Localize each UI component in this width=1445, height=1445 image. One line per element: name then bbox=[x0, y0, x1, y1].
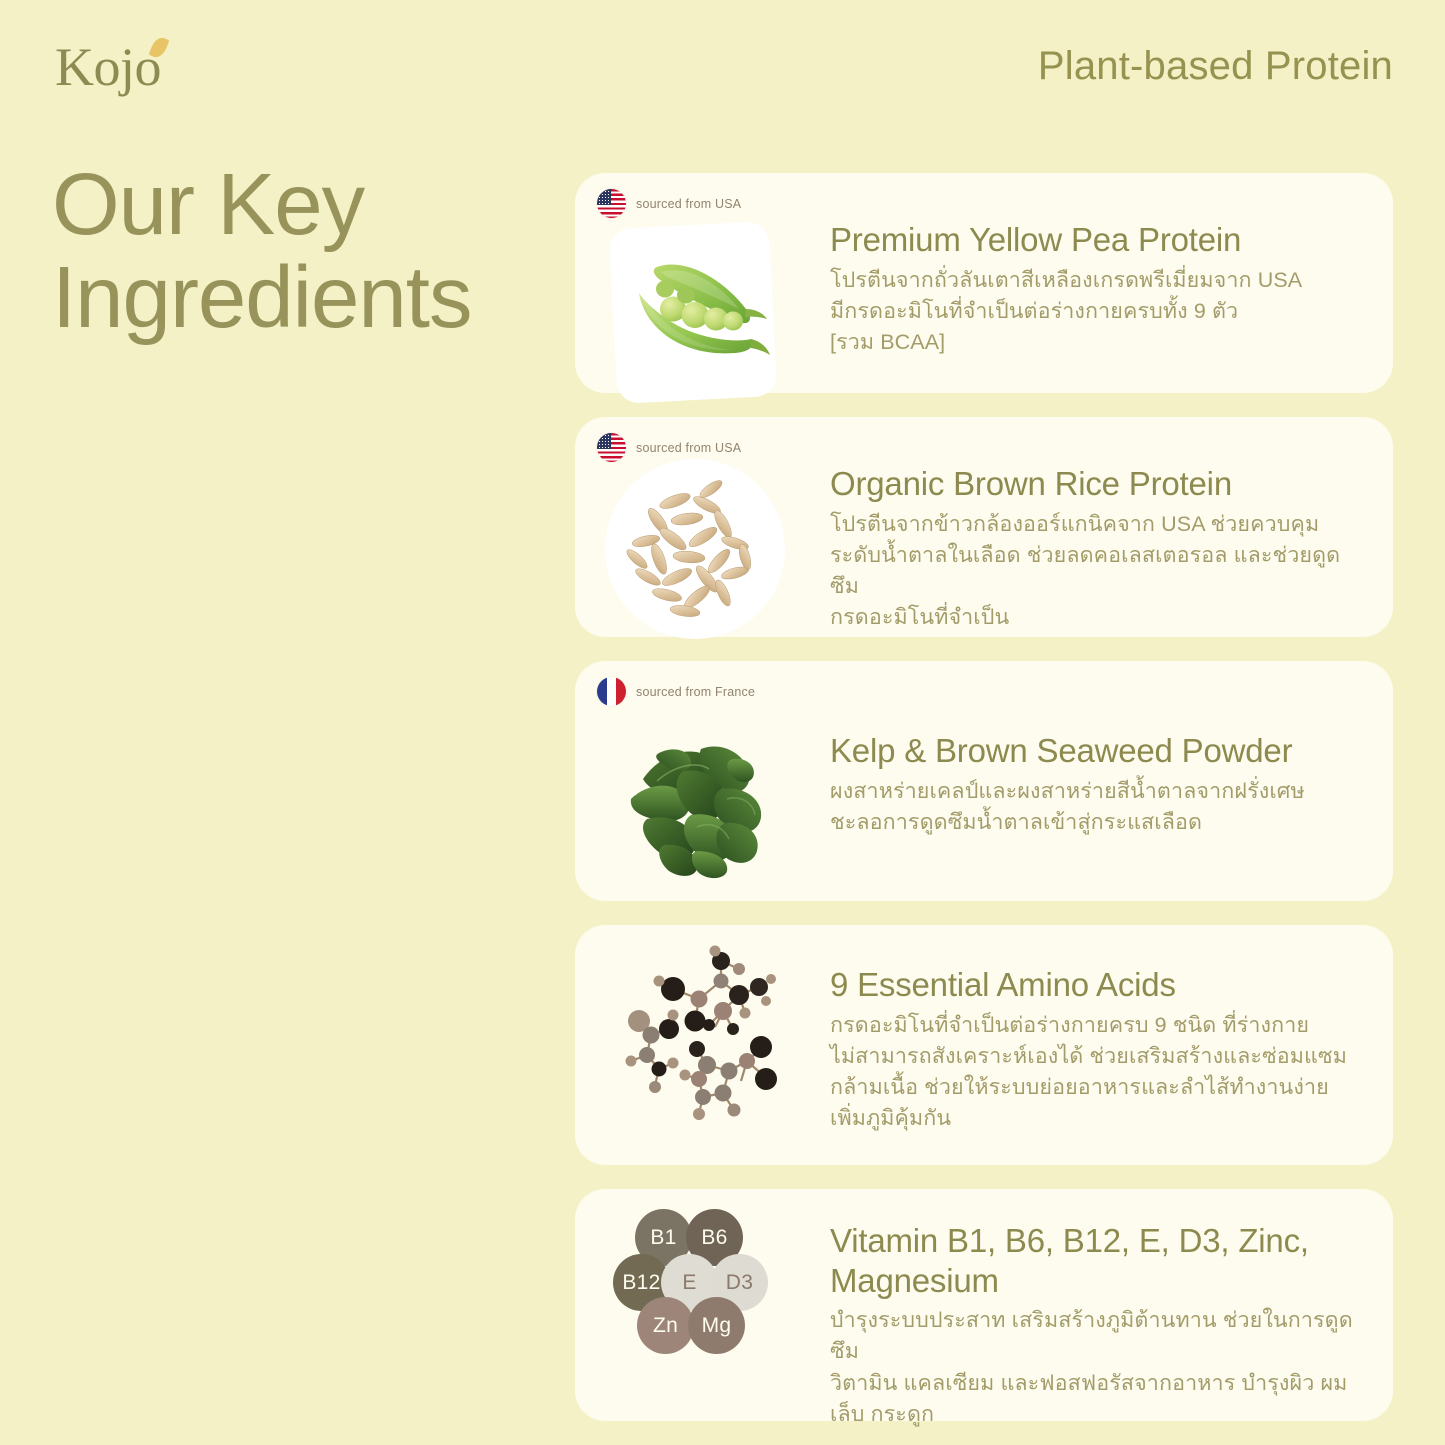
brown-rice-grains-photo bbox=[615, 469, 775, 629]
brand-logo: Kojo bbox=[55, 40, 161, 94]
card-description: โปรตีนจากข้าวกล้องออร์แกนิคจาก USA ช่วยค… bbox=[830, 509, 1367, 634]
kelp-seaweed-photo bbox=[613, 719, 783, 884]
source-badge-label: sourced from USA bbox=[636, 197, 741, 211]
amino-acid-molecule-diagram bbox=[603, 937, 803, 1127]
card-media: B1 B6 B12 E D3 Zn Mg bbox=[575, 1189, 830, 1421]
card-body: Premium Yellow Pea Protein โปรตีนจากถั่ว… bbox=[830, 173, 1393, 358]
card-description: ผงสาหร่ายเคลป์และผงสาหร่ายสีน้ำตาลจากฝรั… bbox=[830, 776, 1367, 838]
ingredient-card-list: sourced from USA bbox=[575, 173, 1393, 1445]
card-media: sourced from USA bbox=[575, 417, 830, 637]
card-body: Kelp & Brown Seaweed Powder ผงสาหร่ายเคล… bbox=[830, 661, 1393, 838]
source-badge: sourced from France bbox=[597, 677, 755, 706]
source-badge-label: sourced from USA bbox=[636, 441, 741, 455]
card-body: Organic Brown Rice Protein โปรตีนจากข้าว… bbox=[830, 417, 1393, 633]
source-badge: sourced from USA bbox=[597, 433, 741, 462]
ingredient-card-amino-acids[interactable]: 9 Essential Amino Acids กรดอะมิโนที่จำเป… bbox=[575, 925, 1393, 1165]
card-title: Vitamin B1, B6, B12, E, D3, Zinc, Magnes… bbox=[830, 1221, 1367, 1300]
source-badge-label: sourced from France bbox=[636, 685, 755, 699]
card-media bbox=[575, 925, 830, 1165]
card-media: sourced from France bbox=[575, 661, 830, 901]
card-body: 9 Essential Amino Acids กรดอะมิโนที่จำเป… bbox=[830, 925, 1393, 1134]
brand-name: Kojo bbox=[55, 37, 161, 97]
ingredient-card-brown-rice[interactable]: sourced from USA bbox=[575, 417, 1393, 637]
card-body: Vitamin B1, B6, B12, E, D3, Zinc, Magnes… bbox=[830, 1189, 1393, 1430]
card-description: โปรตีนจากถั่วลันเตาสีเหลืองเกรดพรีเมี่ยม… bbox=[830, 265, 1367, 359]
ingredient-card-yellow-pea[interactable]: sourced from USA bbox=[575, 173, 1393, 393]
card-title: Organic Brown Rice Protein bbox=[830, 464, 1367, 504]
header-tagline: Plant-based Protein bbox=[1038, 44, 1393, 89]
vitamin-bubbles-cluster: B1 B6 B12 E D3 Zn Mg bbox=[613, 1209, 793, 1369]
us-flag-icon bbox=[597, 433, 626, 462]
ingredient-card-vitamins-minerals[interactable]: B1 B6 B12 E D3 Zn Mg Vitamin B1, B6, B12… bbox=[575, 1189, 1393, 1421]
source-badge: sourced from USA bbox=[597, 189, 741, 218]
vitamin-bubble-zn[interactable]: Zn bbox=[637, 1297, 694, 1354]
card-title: Premium Yellow Pea Protein bbox=[830, 220, 1367, 260]
card-title: Kelp & Brown Seaweed Powder bbox=[830, 731, 1367, 771]
fr-flag-icon bbox=[597, 677, 626, 706]
card-media: sourced from USA bbox=[575, 173, 830, 393]
ingredient-card-kelp-seaweed[interactable]: sourced from France bbox=[575, 661, 1393, 901]
yellow-pea-pod-photo bbox=[615, 231, 780, 396]
page-title: Our Key Ingredients bbox=[52, 158, 572, 344]
card-description: บำรุงระบบประสาท เสริมสร้างภูมิต้านทาน ช่… bbox=[830, 1305, 1367, 1430]
us-flag-icon bbox=[597, 189, 626, 218]
card-description: กรดอะมิโนที่จำเป็นต่อร่างกายครบ 9 ชนิด ท… bbox=[830, 1010, 1367, 1135]
card-title: 9 Essential Amino Acids bbox=[830, 965, 1367, 1005]
vitamin-bubble-mg[interactable]: Mg bbox=[688, 1297, 745, 1354]
